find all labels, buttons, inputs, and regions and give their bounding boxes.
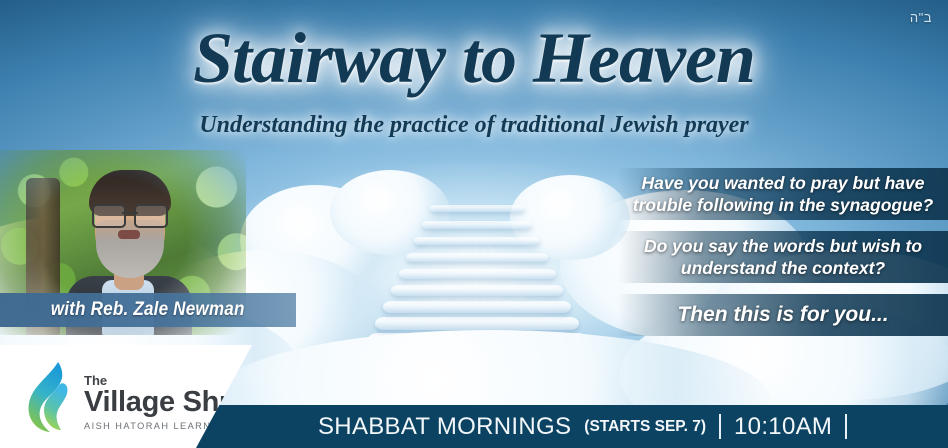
schedule-start-date: (STARTS SEP. 7) [584, 418, 706, 436]
speaker-name-band: with Reb. Zale Newman [0, 293, 296, 327]
question-band-1: Have you wanted to pray but have trouble… [618, 168, 948, 220]
question-text-3: Then this is for you... [663, 303, 902, 327]
glasses-bridge [122, 212, 138, 214]
lens-right [134, 204, 168, 228]
question-band-2: Do you say the words but wish to underst… [618, 231, 948, 283]
separator [719, 414, 721, 439]
stair-step [383, 301, 571, 313]
stair-step [375, 317, 579, 330]
schedule-text: SHABBAT MORNINGS (STARTS SEP. 7) 10:10AM [318, 405, 847, 448]
stair-step [422, 221, 533, 229]
stair-step [430, 205, 525, 212]
page-title: Stairway to Heaven [0, 22, 948, 94]
question-text-2: Do you say the words but wish to underst… [618, 235, 948, 280]
separator [845, 414, 847, 439]
stair-step [399, 269, 556, 279]
stair-step [406, 253, 548, 262]
stair-step [391, 285, 564, 296]
lens-left [92, 204, 126, 228]
stair-step [414, 237, 540, 246]
promotional-banner: ב"ה Stairway to Heaven Understanding the… [0, 0, 948, 448]
beard [96, 220, 164, 278]
schedule-day: SHABBAT MORNINGS [318, 413, 571, 441]
question-text-1: Have you wanted to pray but have trouble… [618, 172, 948, 217]
glasses-icon [92, 204, 168, 224]
speaker-name: with Reb. Zale Newman [51, 299, 245, 321]
flame-icon [24, 360, 76, 434]
question-band-3: Then this is for you... [618, 294, 948, 336]
page-subtitle: Understanding the practice of traditiona… [0, 112, 948, 139]
schedule-time: 10:10AM [734, 413, 832, 441]
mouth [118, 230, 140, 239]
